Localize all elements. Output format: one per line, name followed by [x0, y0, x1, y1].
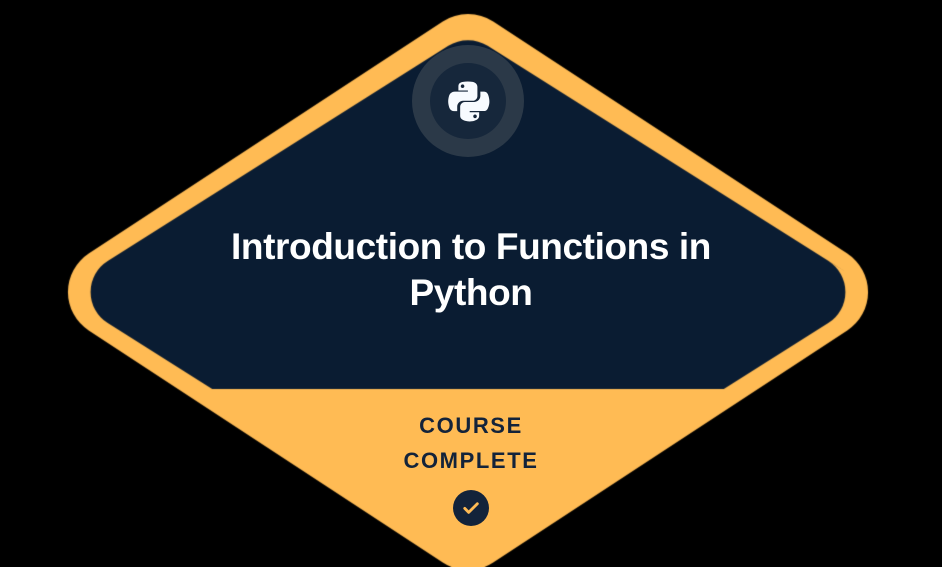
course-completion-badge — [0, 0, 942, 567]
